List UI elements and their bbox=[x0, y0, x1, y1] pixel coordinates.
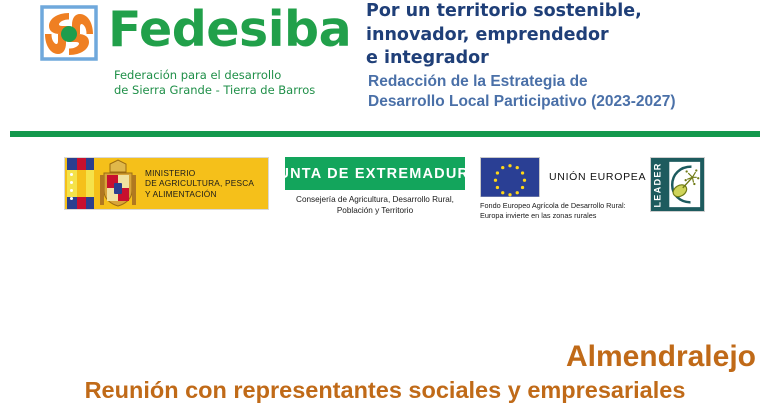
poster-subheadline: Redacción de la Estrategia de Desarrollo… bbox=[368, 72, 768, 112]
ue-label: UNIÓN EUROPEA bbox=[549, 171, 646, 183]
junta-subtitle: Consejería de Agricultura, Desarrollo Ru… bbox=[285, 194, 465, 216]
headline-line-1: Por un territorio sostenible, bbox=[366, 0, 766, 24]
poster-canvas: Fedesiba Federación para el desarrollo d… bbox=[0, 0, 770, 410]
ministerio-label: MINISTERIO DE AGRICULTURA, PESCA Y ALIME… bbox=[145, 168, 254, 200]
headline-line-2: innovador, emprendedor bbox=[366, 24, 766, 48]
tagline-line-1: Federación para el desarrollo bbox=[114, 68, 315, 83]
spain-flag-icon bbox=[67, 157, 94, 210]
leader-logo-icon: LEADER bbox=[650, 157, 705, 212]
meeting-title: Reunión con representantes sociales y em… bbox=[0, 376, 770, 404]
logo-union-europea: UNIÓN EUROPEA Fondo Europeo Agrícola de … bbox=[480, 157, 645, 220]
green-divider-rule bbox=[10, 131, 760, 137]
subheadline-line-1: Redacción de la Estrategia de bbox=[368, 72, 768, 92]
eu-flag-icon bbox=[480, 157, 540, 197]
fedesiba-wordmark: Fedesiba bbox=[108, 4, 351, 56]
city-title: Almendralejo bbox=[566, 340, 756, 374]
ue-subtitle: Fondo Europeo Agrícola de Desarrollo Rur… bbox=[480, 201, 645, 220]
junta-title-box: JUNTA DE EXTREMADURA bbox=[285, 157, 465, 190]
ministerio-line-3: Y ALIMENTACIÓN bbox=[145, 189, 254, 200]
fedesiba-brand: Fedesiba Federación para el desarrollo d… bbox=[36, 2, 356, 64]
logo-ministerio-agricultura: MINISTERIO DE AGRICULTURA, PESCA Y ALIME… bbox=[64, 157, 269, 210]
fedesiba-tagline: Federación para el desarrollo de Sierra … bbox=[114, 68, 315, 97]
fedesiba-pinwheel-icon bbox=[36, 4, 102, 64]
headline-line-3: e integrador bbox=[366, 47, 766, 71]
ue-row: UNIÓN EUROPEA bbox=[480, 157, 645, 197]
junta-sub-line-1: Consejería de Agricultura, Desarrollo Ru… bbox=[285, 194, 465, 205]
junta-sub-line-2: Población y Territorio bbox=[285, 205, 465, 216]
junta-title: JUNTA DE EXTREMADURA bbox=[269, 166, 481, 182]
ue-sub-line-1: Fondo Europeo Agrícola de Desarrollo Rur… bbox=[480, 201, 645, 211]
subheadline-line-2: Desarrollo Local Participativo (2023-202… bbox=[368, 92, 768, 112]
ue-sub-line-2: Europa invierte en las zonas rurales bbox=[480, 211, 645, 221]
poster-headline: Por un territorio sostenible, innovador,… bbox=[366, 0, 766, 71]
svg-text:LEADER: LEADER bbox=[653, 162, 663, 207]
spain-coat-of-arms-icon bbox=[98, 159, 138, 209]
logo-junta-extremadura: JUNTA DE EXTREMADURA Consejería de Agric… bbox=[285, 157, 465, 216]
tagline-line-2: de Sierra Grande - Tierra de Barros bbox=[114, 83, 315, 98]
brand-row: Fedesiba bbox=[36, 2, 356, 64]
institutional-logo-band: MINISTERIO DE AGRICULTURA, PESCA Y ALIME… bbox=[0, 155, 770, 227]
ministerio-line-1: MINISTERIO bbox=[145, 168, 254, 179]
ministerio-line-2: DE AGRICULTURA, PESCA bbox=[145, 178, 254, 189]
